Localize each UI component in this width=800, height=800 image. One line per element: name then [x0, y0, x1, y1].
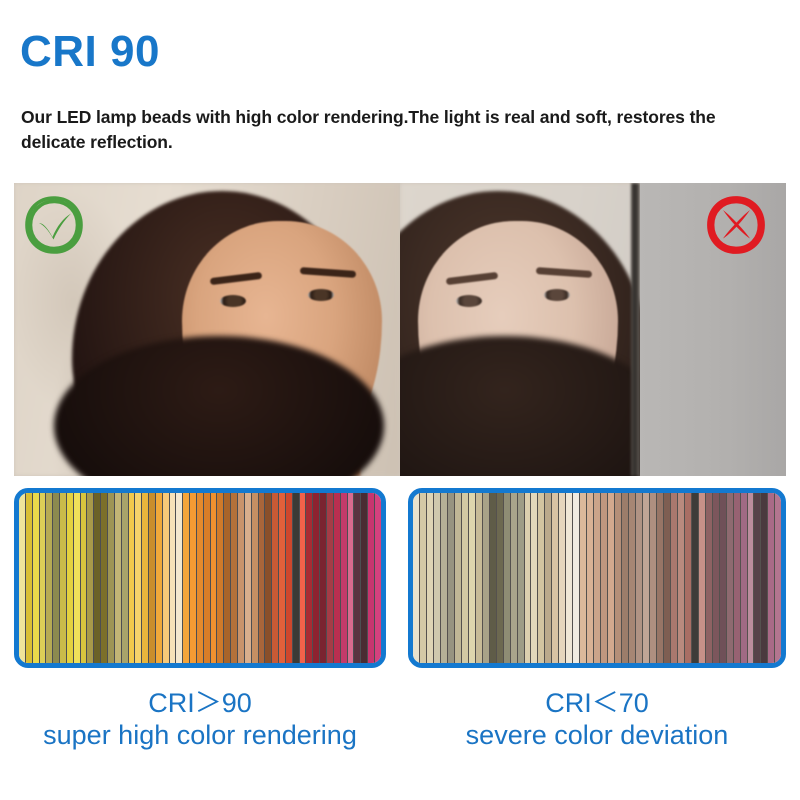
color-swatch [530, 493, 537, 663]
color-swatch [475, 493, 482, 663]
color-swatch [740, 493, 747, 663]
color-swatch [719, 493, 726, 663]
subject-eye [308, 289, 334, 301]
color-swatch [52, 493, 59, 663]
color-swatch [189, 493, 196, 663]
color-swatch [285, 493, 292, 663]
color-swatch [649, 493, 656, 663]
color-swatch [733, 493, 740, 663]
color-swatch [230, 493, 237, 663]
color-swatch [121, 493, 128, 663]
subject-eye [456, 295, 482, 307]
color-swatch [25, 493, 32, 663]
color-swatch [565, 493, 572, 663]
swatch-strip-list [413, 493, 781, 663]
color-swatch [461, 493, 468, 663]
color-swatch [593, 493, 600, 663]
color-swatch [524, 493, 531, 663]
color-swatch [305, 493, 312, 663]
color-swatch [614, 493, 621, 663]
color-swatch [760, 493, 767, 663]
color-swatch [656, 493, 663, 663]
color-swatch [600, 493, 607, 663]
color-swatch [80, 493, 87, 663]
color-swatch [299, 493, 306, 663]
color-swatch [663, 493, 670, 663]
subject-eye [544, 289, 570, 301]
color-swatch [333, 493, 340, 663]
color-swatch [39, 493, 46, 663]
color-swatch [203, 493, 210, 663]
color-swatch [86, 493, 93, 663]
color-swatch [677, 493, 684, 663]
color-swatch [468, 493, 475, 663]
color-swatch [237, 493, 244, 663]
caption-low-cri-text: severe color deviation [408, 720, 786, 752]
color-swatch [440, 493, 447, 663]
color-swatch [155, 493, 162, 663]
mirror-frame-edge [631, 183, 640, 476]
color-swatch [367, 493, 374, 663]
color-swatch [347, 493, 354, 663]
color-swatch [572, 493, 579, 663]
color-swatch [107, 493, 114, 663]
page-title: CRI 90 [20, 30, 160, 74]
color-swatch [433, 493, 440, 663]
color-swatch [93, 493, 100, 663]
color-swatch [628, 493, 635, 663]
color-swatch [66, 493, 73, 663]
color-swatch [635, 493, 642, 663]
color-swatch [162, 493, 169, 663]
color-swatch [517, 493, 524, 663]
cross-circle-icon [704, 193, 768, 257]
page-description: Our LED lamp beads with high color rende… [21, 105, 761, 156]
color-swatch [258, 493, 265, 663]
color-swatch [216, 493, 223, 663]
color-swatch [579, 493, 586, 663]
color-swatch [374, 493, 381, 663]
color-swatch [73, 493, 80, 663]
color-swatch [182, 493, 189, 663]
color-swatch [148, 493, 155, 663]
color-swatch [482, 493, 489, 663]
cri-comparison-page: CRI 90 Our LED lamp beads with high colo… [0, 0, 800, 800]
caption-high-cri-value: CRI＞90 [14, 688, 386, 720]
color-swatch [698, 493, 705, 663]
color-swatch [169, 493, 176, 663]
color-swatch [319, 493, 326, 663]
color-swatch [32, 493, 39, 663]
color-swatch [558, 493, 565, 663]
color-swatch [326, 493, 333, 663]
color-swatch [128, 493, 135, 663]
color-swatch [607, 493, 614, 663]
color-swatch [544, 493, 551, 663]
color-swatch [360, 493, 367, 663]
color-swatch [670, 493, 677, 663]
caption-high-cri: CRI＞90 super high color rendering [14, 688, 386, 752]
color-swatch [747, 493, 754, 663]
color-swatch [705, 493, 712, 663]
color-swatch [264, 493, 271, 663]
color-swatch [59, 493, 66, 663]
color-swatch [141, 493, 148, 663]
color-swatch [134, 493, 141, 663]
color-swatch [175, 493, 182, 663]
caption-low-cri: CRI＜70 severe color deviation [408, 688, 786, 752]
color-swatch [340, 493, 347, 663]
color-swatch [712, 493, 719, 663]
color-swatch [292, 493, 299, 663]
color-swatch [621, 493, 628, 663]
color-swatch [503, 493, 510, 663]
color-swatch [753, 493, 760, 663]
color-swatch [551, 493, 558, 663]
color-swatch [45, 493, 52, 663]
photo-comparison [14, 183, 786, 476]
color-swatch [426, 493, 433, 663]
color-swatch [244, 493, 251, 663]
color-swatch [114, 493, 121, 663]
caption-high-cri-text: super high color rendering [14, 720, 386, 752]
color-swatch [312, 493, 319, 663]
subject-eye [220, 295, 246, 307]
caption-low-cri-value: CRI＜70 [408, 688, 786, 720]
check-circle-icon [22, 193, 86, 257]
color-swatch [419, 493, 426, 663]
color-swatch [100, 493, 107, 663]
color-swatch [684, 493, 691, 663]
color-swatch [726, 493, 733, 663]
color-swatch [196, 493, 203, 663]
color-swatch [537, 493, 544, 663]
swatch-panel-low-cri [408, 488, 786, 668]
swatch-strip-list [19, 493, 381, 663]
color-swatch [210, 493, 217, 663]
color-swatch [353, 493, 360, 663]
color-swatch [496, 493, 503, 663]
color-swatch [489, 493, 496, 663]
color-swatch [454, 493, 461, 663]
color-swatch [767, 493, 774, 663]
color-swatch [774, 493, 781, 663]
color-swatch [510, 493, 517, 663]
color-swatch [223, 493, 230, 663]
color-swatch [251, 493, 258, 663]
color-swatch [278, 493, 285, 663]
color-swatch [642, 493, 649, 663]
swatch-panel-high-cri [14, 488, 386, 668]
color-swatch [447, 493, 454, 663]
color-swatch [586, 493, 593, 663]
color-swatch [271, 493, 278, 663]
color-swatch [691, 493, 698, 663]
